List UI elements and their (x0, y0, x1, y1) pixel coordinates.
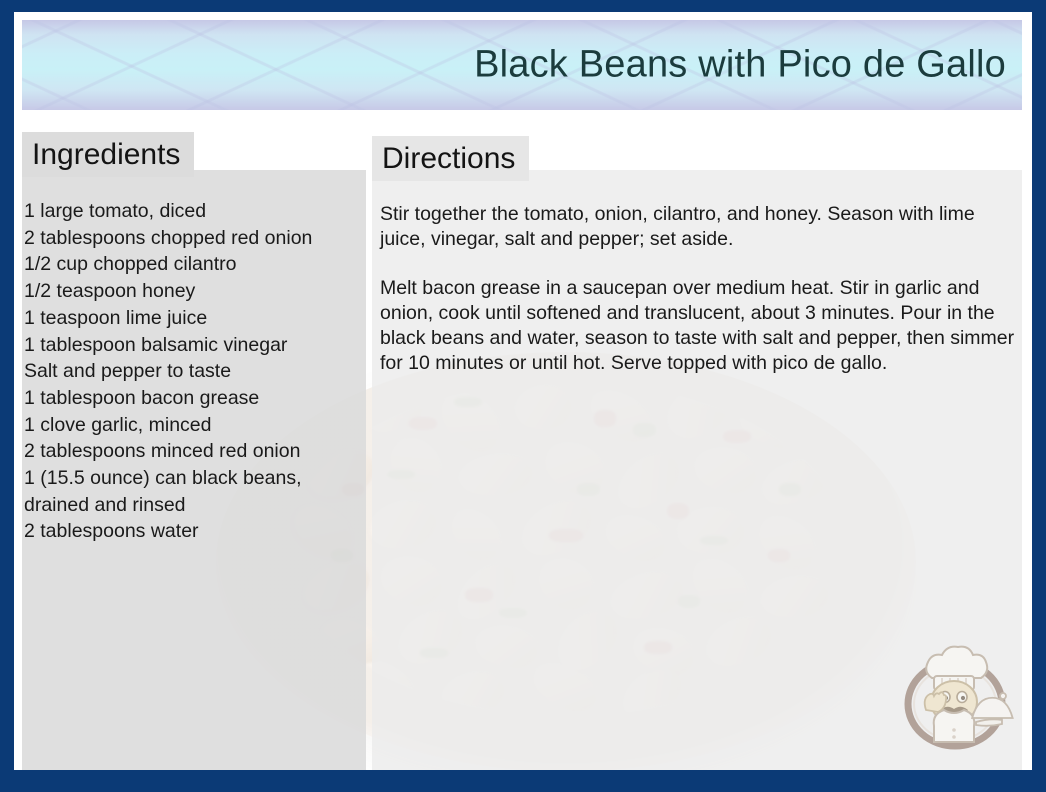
directions-paragraph: Melt bacon grease in a saucepan over med… (380, 276, 1016, 376)
list-item: 1/2 cup chopped cilantro (24, 251, 364, 278)
ingredients-list: 1 large tomato, diced 2 tablespoons chop… (24, 198, 364, 545)
recipe-slide: Black Beans with Pico de Gallo (0, 0, 1046, 792)
chef-mascot-logo (890, 626, 1020, 754)
ingredients-heading: Ingredients (22, 132, 194, 177)
title-banner: Black Beans with Pico de Gallo (22, 20, 1022, 110)
directions-body: Stir together the tomato, onion, cilantr… (380, 202, 1016, 376)
list-item: 1 large tomato, diced (24, 198, 364, 225)
list-item: Salt and pepper to taste (24, 358, 364, 385)
slide-page: Black Beans with Pico de Gallo (14, 12, 1032, 770)
page-title: Black Beans with Pico de Gallo (474, 44, 1006, 87)
list-item: 2 tablespoons chopped red onion (24, 225, 364, 252)
list-item: 1/2 teaspoon honey (24, 278, 364, 305)
directions-heading: Directions (372, 136, 529, 181)
list-item: 1 teaspoon lime juice (24, 305, 364, 332)
list-item: 2 tablespoons water (24, 518, 364, 545)
list-item: 1 tablespoon bacon grease (24, 385, 364, 412)
list-item: 2 tablespoons minced red onion (24, 438, 364, 465)
list-item: 1 tablespoon balsamic vinegar (24, 332, 364, 359)
list-item: 1 clove garlic, minced (24, 412, 364, 439)
directions-paragraph: Stir together the tomato, onion, cilantr… (380, 202, 1016, 252)
list-item: 1 (15.5 ounce) can black beans, drained … (24, 465, 364, 518)
